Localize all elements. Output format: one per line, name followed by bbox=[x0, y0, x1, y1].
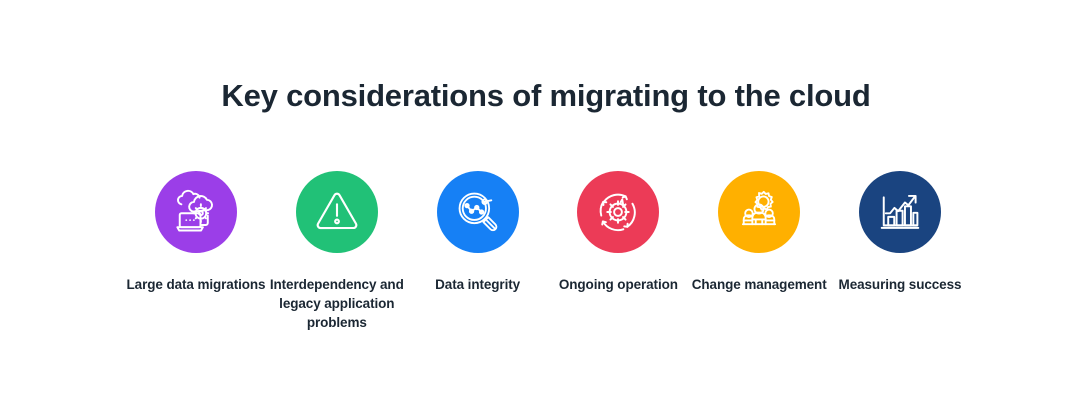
icon-badge-measuring-success bbox=[859, 171, 941, 253]
bar-chart-growth-arrow-icon bbox=[874, 186, 926, 238]
icon-badge-change-management bbox=[718, 171, 800, 253]
icon-badge-interdependency-legacy bbox=[296, 171, 378, 253]
magnifier-line-chart-icon bbox=[452, 186, 504, 238]
infographic-root: Key considerations of migrating to the c… bbox=[0, 0, 1092, 400]
consideration-item-measuring-success[interactable]: Measuring success bbox=[830, 171, 970, 294]
consideration-label: Change management bbox=[684, 275, 834, 294]
consideration-item-data-integrity[interactable]: Data integrity bbox=[408, 171, 548, 294]
considerations-row: Large data migrations Interdependency an… bbox=[126, 171, 970, 332]
people-gear-icon bbox=[733, 186, 785, 238]
consideration-label: Large data migrations bbox=[121, 275, 271, 294]
page-title: Key considerations of migrating to the c… bbox=[0, 76, 1092, 116]
icon-badge-large-data-migrations bbox=[155, 171, 237, 253]
icon-badge-ongoing-operation bbox=[577, 171, 659, 253]
consideration-item-large-data-migrations[interactable]: Large data migrations bbox=[126, 171, 266, 294]
warning-triangle-icon bbox=[311, 186, 363, 238]
cloud-gear-laptop-icon bbox=[170, 186, 222, 238]
consideration-label: Interdependency and legacy application p… bbox=[252, 275, 422, 332]
consideration-label: Data integrity bbox=[403, 275, 553, 294]
consideration-item-ongoing-operation[interactable]: Ongoing operation bbox=[548, 171, 688, 294]
gear-refresh-arrows-icon bbox=[592, 186, 644, 238]
icon-badge-data-integrity bbox=[437, 171, 519, 253]
consideration-item-change-management[interactable]: Change management bbox=[689, 171, 829, 294]
consideration-label: Measuring success bbox=[825, 275, 975, 294]
consideration-label: Ongoing operation bbox=[543, 275, 693, 294]
consideration-item-interdependency-legacy[interactable]: Interdependency and legacy application p… bbox=[267, 171, 407, 332]
